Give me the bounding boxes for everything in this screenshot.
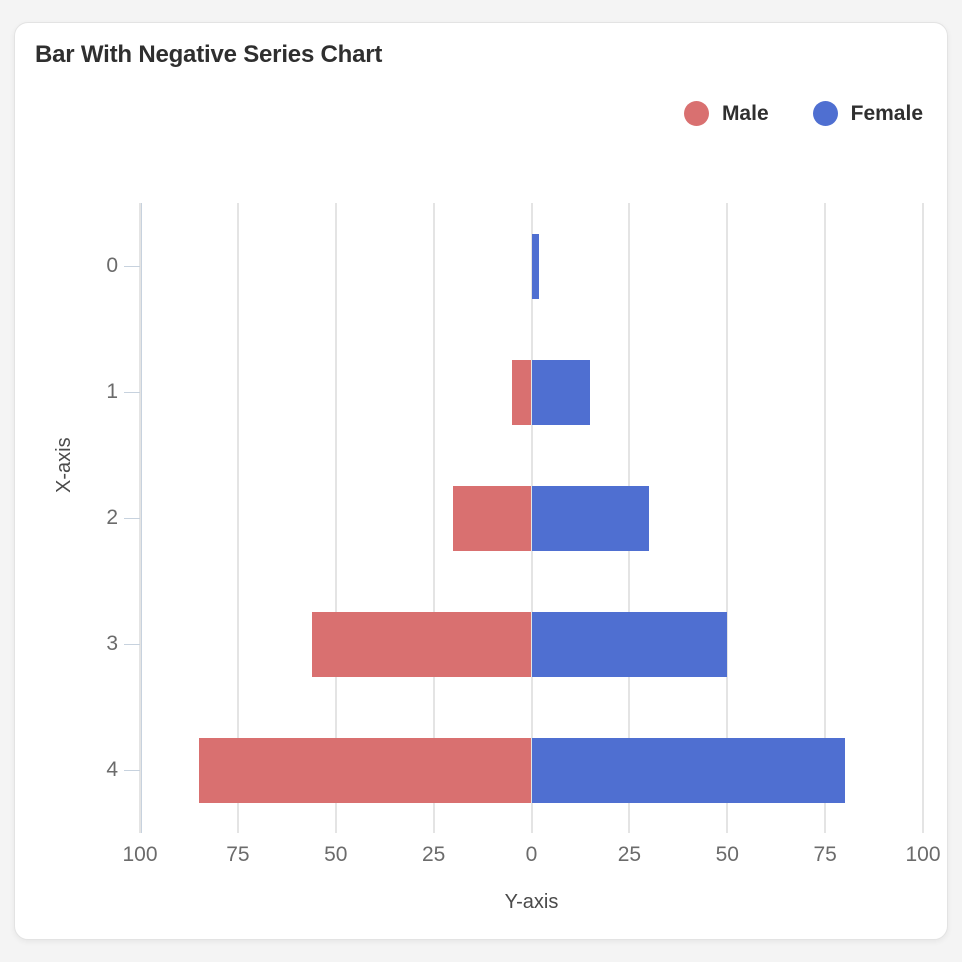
bar-female-0[interactable] bbox=[532, 234, 540, 299]
chart-legend: Male Female bbox=[684, 101, 923, 126]
legend-item-female[interactable]: Female bbox=[813, 101, 923, 126]
bar-male-2[interactable] bbox=[453, 486, 531, 551]
y-axis-tick bbox=[124, 644, 140, 645]
y-axis-tick bbox=[124, 770, 140, 771]
bar-male-4[interactable] bbox=[199, 738, 532, 803]
x-axis-tick-label: 50 bbox=[716, 843, 739, 867]
bar-female-2[interactable] bbox=[532, 486, 649, 551]
y-axis-tick bbox=[124, 518, 140, 519]
bar-male-1[interactable] bbox=[512, 360, 532, 425]
chart-card: Bar With Negative Series Chart Male Fema… bbox=[14, 22, 948, 940]
bar-male-3[interactable] bbox=[312, 612, 531, 677]
y-axis-tick bbox=[124, 266, 140, 267]
legend-label-female: Female bbox=[851, 102, 923, 126]
x-axis-tick-label: 25 bbox=[422, 843, 445, 867]
bar-female-1[interactable] bbox=[532, 360, 591, 425]
bar-female-3[interactable] bbox=[532, 612, 728, 677]
x-axis-tick-label: 100 bbox=[905, 843, 940, 867]
x-axis-tick-label: 50 bbox=[324, 843, 347, 867]
y-axis-title: X-axis bbox=[53, 437, 76, 493]
gridline bbox=[922, 203, 924, 833]
x-axis-tick-label: 0 bbox=[526, 843, 538, 867]
y-axis-tick-label: 3 bbox=[106, 632, 118, 656]
legend-label-male: Male bbox=[722, 102, 769, 126]
x-axis-tick-label: 75 bbox=[226, 843, 249, 867]
x-axis-tick-label: 100 bbox=[122, 843, 157, 867]
page-title: Bar With Negative Series Chart bbox=[35, 41, 382, 69]
x-axis-tick-label: 25 bbox=[618, 843, 641, 867]
y-axis-tick bbox=[124, 392, 140, 393]
x-axis-tick-label: 75 bbox=[813, 843, 836, 867]
circle-icon bbox=[813, 101, 838, 126]
x-axis-title: Y-axis bbox=[140, 891, 923, 914]
legend-item-male[interactable]: Male bbox=[684, 101, 769, 126]
y-axis-tick-label: 2 bbox=[106, 506, 118, 530]
plot-area: 100755025025507510001234Y-axis bbox=[140, 203, 923, 833]
y-axis-tick-label: 1 bbox=[106, 380, 118, 404]
y-axis-tick-label: 4 bbox=[106, 758, 118, 782]
circle-icon bbox=[684, 101, 709, 126]
bar-female-4[interactable] bbox=[532, 738, 845, 803]
y-axis-tick-label: 0 bbox=[106, 254, 118, 278]
